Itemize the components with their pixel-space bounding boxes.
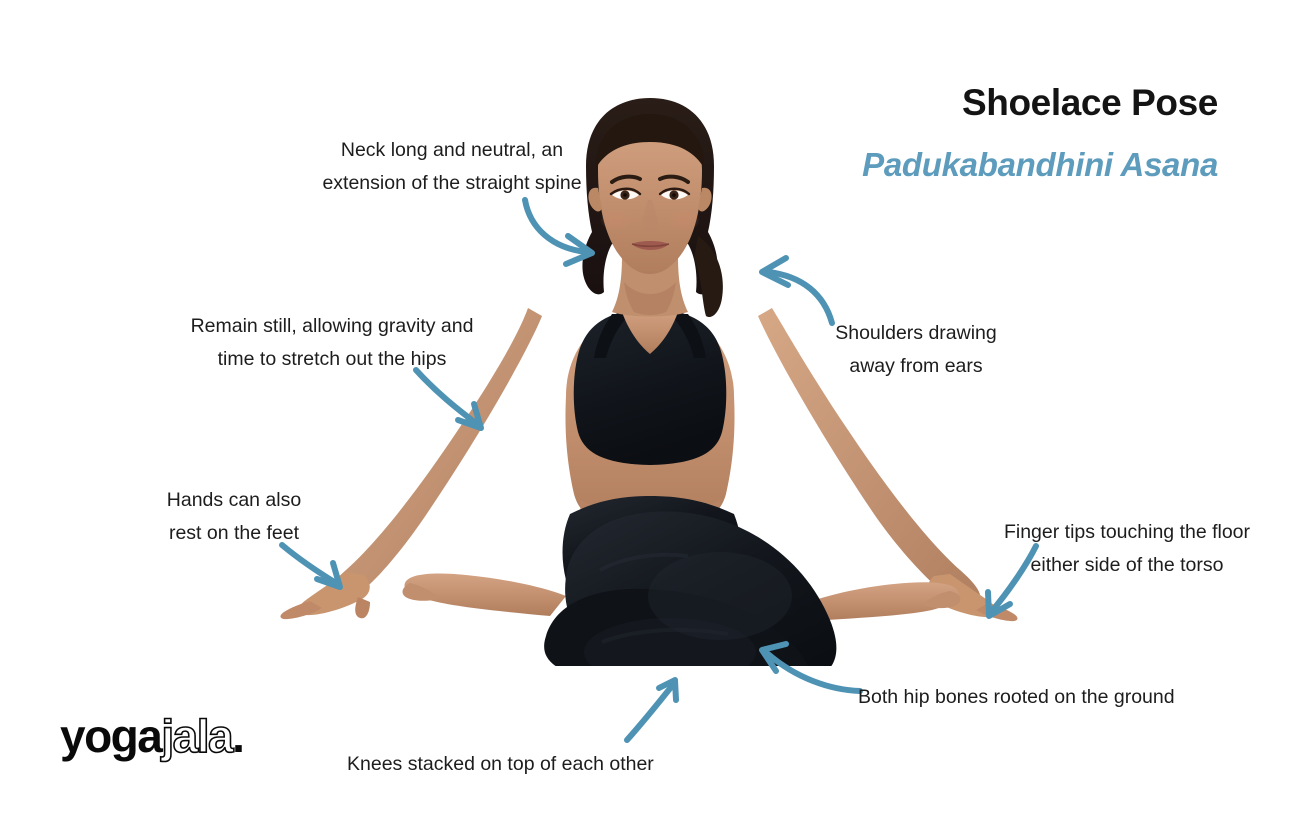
logo-part-jala: jala xyxy=(161,710,232,762)
annotation-neck: Neck long and neutral, an extension of t… xyxy=(292,134,612,200)
logo-part-yoga: yoga xyxy=(60,710,161,762)
annotation-shoulders: Shoulders drawing away from ears xyxy=(806,317,1026,383)
annotation-knees: Knees stacked on top of each other xyxy=(347,748,685,781)
annotation-fingertips: Finger tips touching the floor either si… xyxy=(982,516,1272,582)
torso xyxy=(565,306,734,527)
page-subtitle: Padukabandhini Asana xyxy=(862,146,1218,184)
brand-logo[interactable]: yogajala. xyxy=(60,713,243,759)
page-title: Shoelace Pose xyxy=(962,82,1218,124)
left-shin-and-foot xyxy=(403,574,567,616)
annotation-hips: Both hip bones rooted on the ground xyxy=(858,681,1198,714)
annotation-hands: Hands can also rest on the feet xyxy=(135,484,333,550)
arrow-knees-icon xyxy=(627,680,676,740)
infographic-canvas: Shoelace Pose Padukabandhini Asana Neck … xyxy=(0,0,1300,817)
legs-shoelace xyxy=(544,496,836,666)
logo-dot: . xyxy=(232,710,243,762)
annotation-gravity: Remain still, allowing gravity and time … xyxy=(168,310,496,376)
